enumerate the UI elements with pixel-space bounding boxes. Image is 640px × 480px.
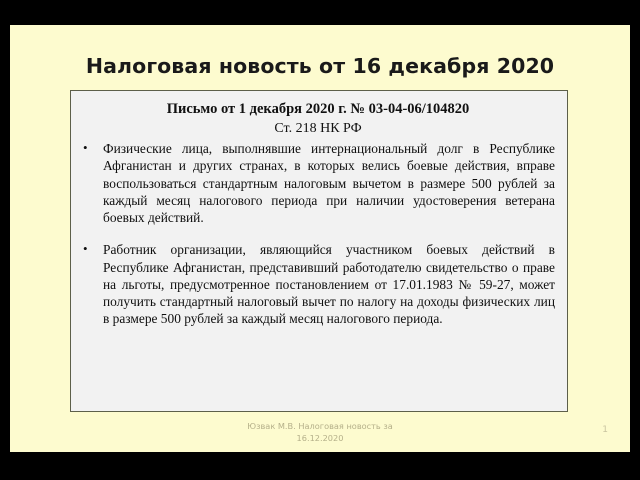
- document-heading: Письмо от 1 декабря 2020 г. № 03-04-06/1…: [81, 101, 555, 119]
- screenshot-viewport: Налоговая новость от 16 декабря 2020 Пис…: [0, 0, 640, 480]
- bullet-list: • Физические лица, выполнявшие интернаци…: [81, 140, 555, 327]
- page-title: Налоговая новость от 16 декабря 2020: [10, 54, 630, 78]
- document-excerpt-box: Письмо от 1 декабря 2020 г. № 03-04-06/1…: [70, 90, 568, 412]
- bullet-dot-icon: •: [83, 241, 88, 258]
- slide-footer: Юзвак М.В. Налоговая новость за 16.12.20…: [10, 421, 630, 444]
- slide-page-number: 1: [602, 425, 608, 435]
- footer-line-1: Юзвак М.В. Налоговая новость за: [10, 421, 630, 433]
- document-subheading: Ст. 218 НК РФ: [81, 120, 555, 138]
- bullet-dot-icon: •: [83, 140, 88, 157]
- list-item-text: Физические лица, выполнявшие интернацион…: [103, 141, 555, 225]
- footer-line-2: 16.12.2020: [10, 433, 630, 445]
- list-item: • Работник организации, являющийся участ…: [81, 241, 555, 327]
- list-item: • Физические лица, выполнявшие интернаци…: [81, 140, 555, 226]
- list-item-text: Работник организации, являющийся участни…: [103, 242, 555, 326]
- presentation-slide: Налоговая новость от 16 декабря 2020 Пис…: [10, 25, 630, 452]
